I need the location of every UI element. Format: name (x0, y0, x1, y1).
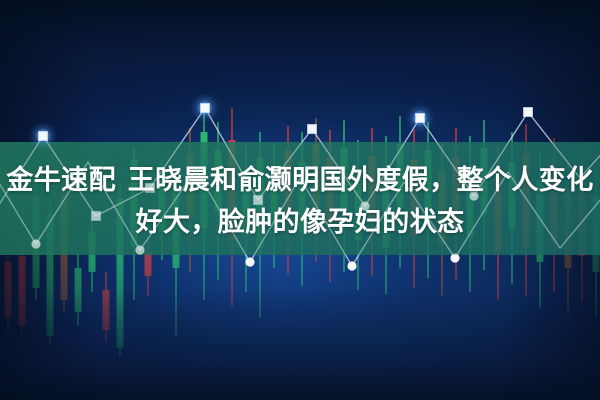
headline-line-1: 金牛速配 王晓晨和俞灏明国外度假，整个人变化 (0, 160, 600, 202)
headline-line-2: 好大，脸肿的像孕妇的状态 (0, 202, 600, 244)
headline-line-1-text: 王晓晨和俞灏明国外度假，整个人变化 (128, 165, 594, 196)
promo-banner: 金牛速配 王晓晨和俞灏明国外度假，整个人变化 好大，脸肿的像孕妇的状态 (0, 0, 600, 400)
headline-overlay: 金牛速配 王晓晨和俞灏明国外度假，整个人变化 好大，脸肿的像孕妇的状态 (0, 160, 600, 244)
brand-label: 金牛速配 (6, 165, 116, 196)
